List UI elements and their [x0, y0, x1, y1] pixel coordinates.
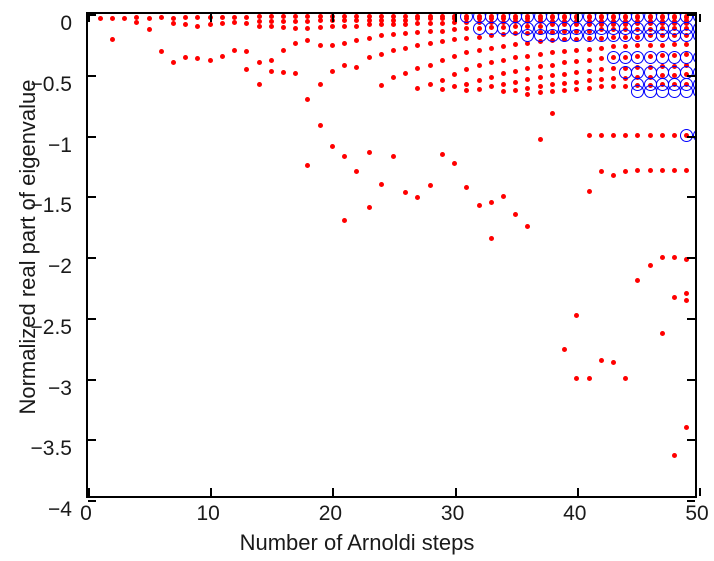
- ritz-marker: [513, 80, 518, 85]
- ritz-marker: [550, 63, 555, 68]
- ritz-marker: [623, 84, 628, 89]
- converged-ritz-marker: [656, 85, 669, 98]
- ritz-marker: [440, 21, 445, 26]
- ritz-marker: [587, 376, 592, 381]
- ritz-marker: [489, 84, 494, 89]
- ritz-marker: [611, 133, 616, 138]
- ritz-marker: [281, 25, 286, 30]
- ritz-marker: [672, 295, 677, 300]
- converged-ritz-marker: [668, 66, 681, 79]
- ritz-marker: [391, 75, 396, 80]
- ritz-marker: [330, 69, 335, 74]
- ritz-marker: [599, 46, 604, 51]
- converged-ritz-marker: [644, 51, 657, 64]
- y-tick-mark: [88, 379, 96, 381]
- ritz-marker: [587, 69, 592, 74]
- ritz-marker: [318, 43, 323, 48]
- ritz-marker: [354, 169, 359, 174]
- y-tick-mark: [88, 196, 96, 198]
- ritz-marker: [391, 48, 396, 53]
- ritz-marker: [110, 16, 115, 21]
- ritz-marker: [501, 58, 506, 63]
- ritz-marker: [660, 331, 665, 336]
- ritz-marker: [440, 152, 445, 157]
- ritz-marker: [220, 15, 225, 20]
- ritz-marker: [587, 133, 592, 138]
- converged-ritz-marker: [693, 51, 696, 64]
- ritz-marker: [501, 44, 506, 49]
- ritz-marker: [318, 82, 323, 87]
- ritz-marker: [281, 19, 286, 24]
- ritz-marker: [415, 21, 420, 26]
- ritz-marker: [98, 16, 103, 21]
- x-tick-mark: [455, 14, 457, 22]
- ritz-marker: [587, 58, 592, 63]
- ritz-marker: [562, 60, 567, 65]
- ritz-marker: [574, 87, 579, 92]
- ritz-marker: [477, 203, 482, 208]
- ritz-marker: [452, 72, 457, 77]
- ritz-marker: [538, 52, 543, 57]
- ritz-marker: [293, 26, 298, 31]
- ritz-marker: [195, 15, 200, 20]
- ritz-marker: [660, 43, 665, 48]
- converged-ritz-marker: [497, 22, 510, 35]
- ritz-marker: [428, 29, 433, 34]
- ritz-marker: [354, 65, 359, 70]
- ritz-marker: [562, 72, 567, 77]
- ritz-marker: [550, 73, 555, 78]
- ritz-marker: [318, 25, 323, 30]
- ritz-marker: [147, 16, 152, 21]
- ritz-marker: [538, 64, 543, 69]
- ritz-marker: [305, 38, 310, 43]
- y-tick-mark: [687, 379, 695, 381]
- ritz-marker: [208, 22, 213, 27]
- ritz-marker: [574, 80, 579, 85]
- converged-ritz-marker: [546, 29, 559, 42]
- ritz-marker: [367, 55, 372, 60]
- ritz-marker: [623, 169, 628, 174]
- ritz-marker: [171, 60, 176, 65]
- converged-ritz-marker: [619, 29, 632, 42]
- ritz-marker: [574, 48, 579, 53]
- ritz-marker: [611, 44, 616, 49]
- ritz-marker: [464, 36, 469, 41]
- ritz-marker: [244, 49, 249, 54]
- y-tick-mark: [687, 257, 695, 259]
- ritz-marker: [342, 218, 347, 223]
- ritz-marker: [220, 21, 225, 26]
- x-tick-label: 0: [80, 502, 92, 526]
- ritz-marker: [440, 29, 445, 34]
- x-tick-mark: [577, 14, 579, 22]
- ritz-marker: [269, 69, 274, 74]
- ritz-marker: [318, 123, 323, 128]
- ritz-marker: [391, 32, 396, 37]
- ritz-marker: [587, 78, 592, 83]
- ritz-marker: [501, 82, 506, 87]
- ritz-marker: [538, 137, 543, 142]
- ritz-marker: [611, 84, 616, 89]
- ritz-marker: [403, 71, 408, 76]
- ritz-marker: [354, 18, 359, 23]
- ritz-marker: [684, 42, 689, 47]
- y-tick-mark: [687, 196, 695, 198]
- converged-ritz-marker: [509, 22, 522, 35]
- ritz-marker: [379, 52, 384, 57]
- converged-ritz-marker: [644, 66, 657, 79]
- ritz-marker: [550, 111, 555, 116]
- ritz-marker: [183, 22, 188, 27]
- ritz-marker: [648, 133, 653, 138]
- ritz-marker: [147, 27, 152, 32]
- ritz-marker: [440, 39, 445, 44]
- converged-ritz-marker: [644, 85, 657, 98]
- ritz-marker: [477, 63, 482, 68]
- y-tick-mark: [687, 14, 695, 16]
- ritz-marker: [305, 26, 310, 31]
- x-tick-mark: [699, 488, 701, 496]
- ritz-marker: [415, 30, 420, 35]
- ritz-marker: [379, 33, 384, 38]
- x-tick-mark: [699, 14, 701, 22]
- ritz-marker: [415, 86, 420, 91]
- ritz-marker: [281, 70, 286, 75]
- ritz-marker: [599, 84, 604, 89]
- ritz-marker: [489, 75, 494, 80]
- ritz-marker: [684, 291, 689, 296]
- converged-ritz-marker: [680, 66, 693, 79]
- ritz-marker: [538, 84, 543, 89]
- x-axis-title: Number of Arnoldi steps: [0, 530, 714, 556]
- converged-ritz-marker: [631, 66, 644, 79]
- ritz-marker: [257, 60, 262, 65]
- y-tick-mark: [88, 439, 96, 441]
- ritz-marker: [525, 92, 530, 97]
- ritz-marker: [342, 41, 347, 46]
- ritz-marker: [330, 144, 335, 149]
- ritz-marker: [354, 24, 359, 29]
- ritz-marker: [342, 154, 347, 159]
- ritz-marker: [477, 78, 482, 83]
- converged-ritz-marker: [583, 29, 596, 42]
- ritz-marker: [452, 84, 457, 89]
- converged-ritz-marker: [534, 29, 547, 42]
- ritz-marker: [281, 48, 286, 53]
- ritz-marker: [599, 56, 604, 61]
- ritz-marker: [538, 90, 543, 95]
- ritz-marker: [660, 168, 665, 173]
- x-tick-mark: [88, 488, 90, 496]
- y-tick-mark: [88, 136, 96, 138]
- ritz-marker: [183, 55, 188, 60]
- y-tick-label: −3: [48, 377, 72, 401]
- ritz-marker: [599, 67, 604, 72]
- ritz-marker: [195, 56, 200, 61]
- ritz-marker: [672, 42, 677, 47]
- converged-ritz-marker: [680, 85, 693, 98]
- converged-ritz-marker: [473, 22, 486, 35]
- ritz-marker: [159, 49, 164, 54]
- ritz-marker: [232, 48, 237, 53]
- ritz-marker: [122, 16, 127, 21]
- ritz-marker: [562, 81, 567, 86]
- ritz-marker: [599, 169, 604, 174]
- ritz-marker: [513, 88, 518, 93]
- ritz-marker: [293, 71, 298, 76]
- ritz-marker: [428, 82, 433, 87]
- ritz-marker: [269, 24, 274, 29]
- ritz-marker: [477, 87, 482, 92]
- ritz-marker: [464, 88, 469, 93]
- x-tick-label: 20: [319, 502, 342, 526]
- ritz-marker: [318, 18, 323, 23]
- ritz-marker: [403, 31, 408, 36]
- ritz-marker: [244, 15, 249, 20]
- ritz-marker: [403, 46, 408, 51]
- ritz-marker: [574, 59, 579, 64]
- ritz-marker: [257, 82, 262, 87]
- ritz-marker: [635, 168, 640, 173]
- y-tick-mark: [687, 318, 695, 320]
- converged-ritz-marker: [521, 29, 534, 42]
- y-tick-label: −2: [48, 255, 72, 279]
- ritz-marker: [428, 21, 433, 26]
- ritz-marker: [159, 15, 164, 20]
- converged-ritz-marker: [607, 29, 620, 42]
- converged-ritz-marker: [631, 85, 644, 98]
- ritz-marker: [489, 200, 494, 205]
- ritz-marker: [660, 133, 665, 138]
- ritz-marker: [257, 24, 262, 29]
- ritz-marker: [415, 66, 420, 71]
- y-tick-label: −4: [48, 498, 72, 522]
- converged-ritz-marker: [607, 51, 620, 64]
- ritz-marker: [428, 183, 433, 188]
- ritz-marker: [489, 46, 494, 51]
- x-tick-label: 50: [685, 502, 708, 526]
- ritz-marker: [672, 255, 677, 260]
- data-points-layer: [88, 14, 695, 496]
- ritz-marker: [379, 83, 384, 88]
- converged-ritz-marker: [693, 66, 696, 79]
- converged-ritz-marker: [570, 29, 583, 42]
- ritz-marker: [489, 60, 494, 65]
- ritz-marker: [452, 161, 457, 166]
- ritz-marker: [440, 78, 445, 83]
- ritz-marker: [342, 24, 347, 29]
- ritz-marker: [562, 88, 567, 93]
- y-axis-title: Normalized real part of eigenvalue: [15, 4, 41, 490]
- converged-ritz-marker: [680, 29, 693, 42]
- y-tick-mark: [687, 75, 695, 77]
- ritz-marker: [134, 20, 139, 25]
- ritz-marker: [525, 66, 530, 71]
- converged-ritz-marker: [668, 29, 681, 42]
- x-tick-label: 40: [563, 502, 586, 526]
- ritz-marker: [171, 21, 176, 26]
- ritz-marker: [452, 27, 457, 32]
- converged-ritz-marker: [656, 51, 669, 64]
- ritz-marker: [648, 43, 653, 48]
- ritz-marker: [513, 42, 518, 47]
- ritz-marker: [305, 97, 310, 102]
- ritz-marker: [391, 22, 396, 27]
- converged-ritz-marker: [656, 29, 669, 42]
- ritz-marker: [342, 63, 347, 68]
- ritz-marker: [464, 185, 469, 190]
- ritz-marker: [525, 54, 530, 59]
- ritz-marker: [672, 453, 677, 458]
- ritz-marker: [391, 154, 396, 159]
- ritz-marker: [183, 15, 188, 20]
- x-tick-mark: [332, 14, 334, 22]
- ritz-marker: [599, 133, 604, 138]
- ritz-marker: [379, 22, 384, 27]
- ritz-marker: [684, 168, 689, 173]
- converged-ritz-marker: [668, 51, 681, 64]
- ritz-marker: [330, 43, 335, 48]
- ritz-marker: [220, 54, 225, 59]
- y-tick-mark: [687, 136, 695, 138]
- ritz-marker: [305, 19, 310, 24]
- ritz-marker: [452, 54, 457, 59]
- ritz-marker: [501, 89, 506, 94]
- x-tick-mark: [455, 488, 457, 496]
- ritz-marker: [477, 48, 482, 53]
- y-tick-mark: [88, 318, 96, 320]
- ritz-marker: [269, 58, 274, 63]
- ritz-marker: [648, 168, 653, 173]
- figure-canvas: 0−0.5−1−1.5−2−2.5−3−3.5−4 01020304050 Nu…: [0, 0, 714, 561]
- ritz-marker: [574, 70, 579, 75]
- converged-ritz-marker: [631, 29, 644, 42]
- ritz-marker: [489, 236, 494, 241]
- ritz-marker: [623, 133, 628, 138]
- ritz-marker: [244, 67, 249, 72]
- ritz-marker: [599, 358, 604, 363]
- ritz-marker: [342, 18, 347, 23]
- plot-area: [86, 12, 697, 498]
- x-tick-mark: [88, 14, 90, 22]
- ritz-marker: [208, 58, 213, 63]
- ritz-marker: [525, 224, 530, 229]
- ritz-marker: [464, 50, 469, 55]
- converged-ritz-marker: [693, 29, 696, 42]
- ritz-marker: [110, 37, 115, 42]
- ritz-marker: [562, 49, 567, 54]
- converged-ritz-marker: [485, 22, 498, 35]
- ritz-marker: [354, 38, 359, 43]
- ritz-marker: [305, 163, 310, 168]
- ritz-marker: [195, 24, 200, 29]
- converged-ritz-marker: [619, 51, 632, 64]
- ritz-marker: [330, 24, 335, 29]
- ritz-marker: [513, 69, 518, 74]
- ritz-marker: [587, 189, 592, 194]
- ritz-marker: [440, 58, 445, 63]
- x-tick-mark: [577, 488, 579, 496]
- ritz-marker: [623, 44, 628, 49]
- x-tick-label: 30: [441, 502, 464, 526]
- ritz-marker: [574, 376, 579, 381]
- y-tick-mark: [88, 75, 96, 77]
- ritz-marker: [660, 255, 665, 260]
- ritz-marker: [623, 376, 628, 381]
- converged-ritz-marker: [595, 29, 608, 42]
- ritz-marker: [635, 278, 640, 283]
- ritz-marker: [367, 36, 372, 41]
- ritz-marker: [525, 86, 530, 91]
- converged-ritz-marker: [460, 14, 473, 23]
- y-tick-label: −1: [48, 134, 72, 158]
- ritz-marker: [513, 212, 518, 217]
- ritz-marker: [550, 50, 555, 55]
- ritz-marker: [501, 194, 506, 199]
- ritz-marker: [611, 360, 616, 365]
- ritz-marker: [379, 182, 384, 187]
- converged-ritz-marker: [631, 51, 644, 64]
- ritz-marker: [464, 67, 469, 72]
- ritz-marker: [464, 82, 469, 87]
- converged-ritz-marker: [644, 29, 657, 42]
- ritz-marker: [440, 87, 445, 92]
- ritz-marker: [672, 133, 677, 138]
- ritz-marker: [244, 21, 249, 26]
- ritz-marker: [684, 298, 689, 303]
- x-tick-label: 10: [197, 502, 220, 526]
- x-tick-mark: [332, 488, 334, 496]
- ritz-marker: [452, 37, 457, 42]
- ritz-marker: [293, 41, 298, 46]
- converged-ritz-marker: [558, 29, 571, 42]
- ritz-marker: [550, 89, 555, 94]
- x-tick-mark: [210, 14, 212, 22]
- ritz-marker: [599, 77, 604, 82]
- ritz-marker: [611, 66, 616, 71]
- ritz-marker: [525, 77, 530, 82]
- y-tick-mark: [687, 439, 695, 441]
- ritz-marker: [415, 195, 420, 200]
- ritz-marker: [428, 41, 433, 46]
- ritz-marker: [403, 190, 408, 195]
- ritz-marker: [672, 168, 677, 173]
- ritz-marker: [574, 313, 579, 318]
- y-tick-mark: [88, 257, 96, 259]
- ritz-marker: [513, 55, 518, 60]
- ritz-marker: [367, 150, 372, 155]
- ritz-marker: [293, 19, 298, 24]
- ritz-marker: [587, 86, 592, 91]
- ritz-marker: [367, 22, 372, 27]
- ritz-marker: [501, 71, 506, 76]
- converged-ritz-marker: [668, 85, 681, 98]
- ritz-marker: [550, 82, 555, 87]
- ritz-marker: [635, 43, 640, 48]
- converged-ritz-marker: [656, 66, 669, 79]
- ritz-marker: [648, 263, 653, 268]
- ritz-marker: [587, 47, 592, 52]
- ritz-marker: [635, 133, 640, 138]
- ritz-marker: [611, 173, 616, 178]
- x-tick-mark: [210, 488, 212, 496]
- x-axis-tick-labels: 01020304050: [86, 502, 697, 532]
- converged-ritz-marker: [619, 66, 632, 79]
- ritz-marker: [538, 75, 543, 80]
- ritz-marker: [562, 347, 567, 352]
- ritz-marker: [403, 22, 408, 27]
